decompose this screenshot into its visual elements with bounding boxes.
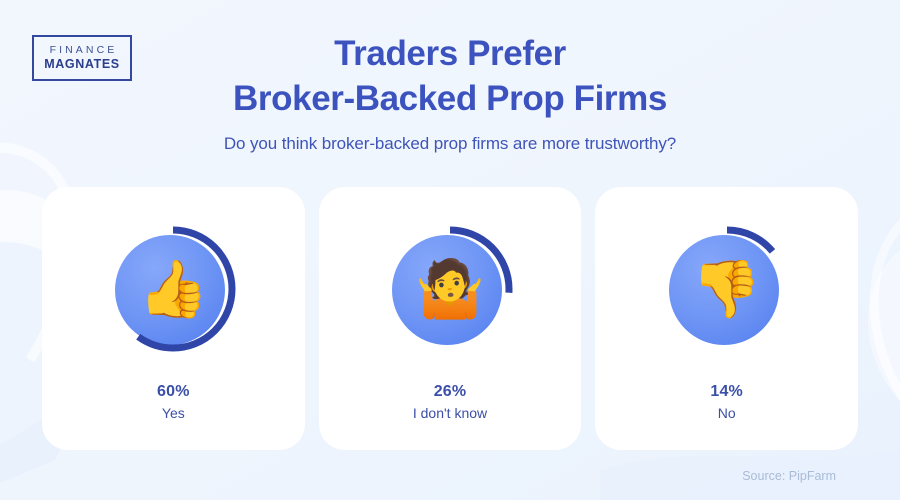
logo-text-magnates: MAGNATES	[44, 57, 119, 73]
source-credit: Source: PipFarm	[742, 469, 836, 483]
thumbs-up-icon: 👍	[108, 224, 238, 354]
logo-text-finance: FINANCE	[47, 44, 118, 57]
title-line-2: Broker-Backed Prop Firms	[233, 79, 667, 118]
header: Traders Prefer Broker-Backed Prop Firms …	[0, 32, 900, 154]
donut-chart-no: 👎	[662, 224, 792, 354]
stat-card-list: 👍 60% Yes 🤷 26% I do	[42, 187, 858, 450]
stat-percent-no: 14%	[595, 383, 858, 401]
stat-percent-i-dont-know: 26%	[319, 383, 582, 401]
stat-label-no: No	[595, 405, 858, 421]
stat-card-yes: 👍 60% Yes	[42, 187, 305, 450]
stat-label-i-dont-know: I don't know	[319, 405, 582, 421]
donut-chart-i-dont-know: 🤷	[385, 224, 515, 354]
stat-card-i-dont-know: 🤷 26% I don't know	[319, 187, 582, 450]
stat-card-no: 👎 14% No	[595, 187, 858, 450]
title-line-1: Traders Prefer	[334, 34, 566, 73]
stat-block-yes: 60% Yes	[42, 383, 305, 421]
page-subtitle: Do you think broker-backed prop firms ar…	[0, 134, 900, 154]
donut-chart-yes: 👍	[108, 224, 238, 354]
stat-label-yes: Yes	[42, 405, 305, 421]
thumbs-down-icon: 👎	[662, 224, 792, 354]
page-title: Traders Prefer Broker-Backed Prop Firms	[0, 32, 900, 122]
finance-magnates-logo: FINANCE MAGNATES	[32, 35, 132, 81]
stat-block-i-dont-know: 26% I don't know	[319, 383, 582, 421]
shrug-icon: 🤷	[385, 224, 515, 354]
stat-block-no: 14% No	[595, 383, 858, 421]
stat-percent-yes: 60%	[42, 383, 305, 401]
